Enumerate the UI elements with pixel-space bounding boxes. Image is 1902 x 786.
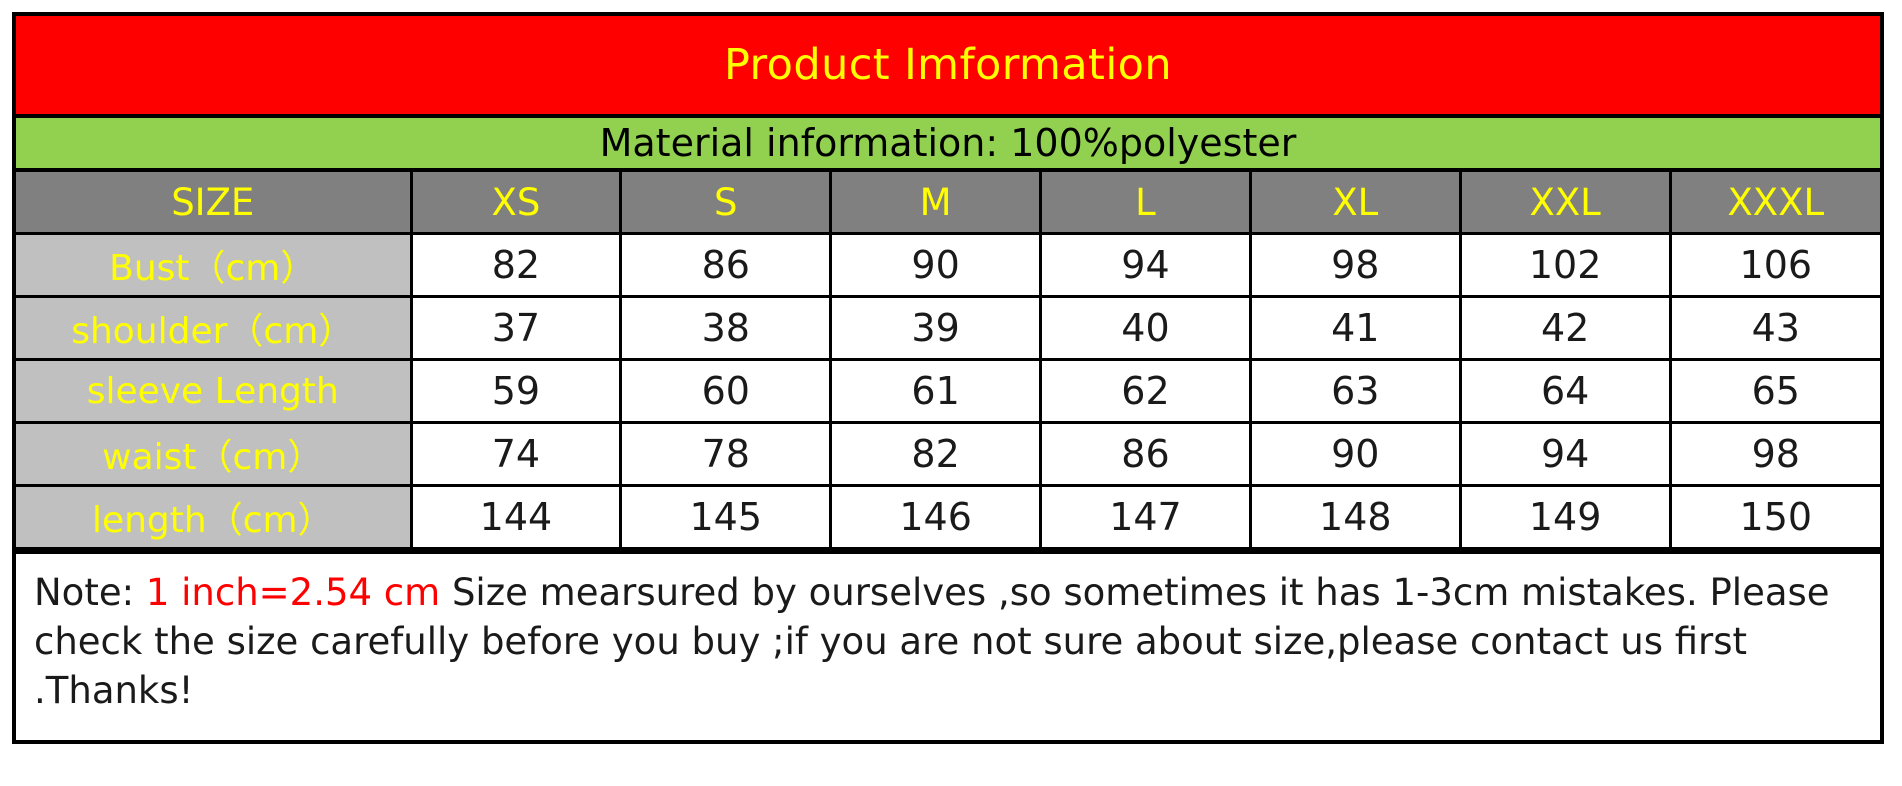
- cell-length-s: 145: [621, 486, 831, 549]
- column-header-size: SIZE: [16, 172, 411, 234]
- table-row: shoulder（cm） 37 38 39 40 41 42 43: [16, 297, 1880, 360]
- note-block: Note: 1 inch=2.54 cm Size mearsured by o…: [16, 550, 1880, 740]
- row-label-shoulder: shoulder（cm）: [16, 297, 411, 360]
- cell-bust-s: 86: [621, 234, 831, 297]
- cell-bust-xxl: 102: [1460, 234, 1670, 297]
- column-header-xl: XL: [1250, 172, 1460, 234]
- cell-shoulder-m: 39: [831, 297, 1041, 360]
- row-label-sleeve-length: sleeve Length: [16, 360, 411, 423]
- cell-sleeve-xl: 63: [1250, 360, 1460, 423]
- row-label-length: length（cm）: [16, 486, 411, 549]
- table-row: length（cm） 144 145 146 147 148 149 150: [16, 486, 1880, 549]
- row-label-bust: Bust（cm）: [16, 234, 411, 297]
- cell-shoulder-l: 40: [1041, 297, 1251, 360]
- cell-shoulder-xs: 37: [411, 297, 621, 360]
- table-row: waist（cm） 74 78 82 86 90 94 98: [16, 423, 1880, 486]
- cell-sleeve-xs: 59: [411, 360, 621, 423]
- cell-sleeve-xxl: 64: [1460, 360, 1670, 423]
- cell-waist-xs: 74: [411, 423, 621, 486]
- cell-bust-xxxl: 106: [1670, 234, 1880, 297]
- cell-waist-xxl: 94: [1460, 423, 1670, 486]
- table-header-row: SIZE XS S M L XL XXL XXXL: [16, 172, 1880, 234]
- cell-sleeve-l: 62: [1041, 360, 1251, 423]
- column-header-xs: XS: [411, 172, 621, 234]
- cell-bust-xs: 82: [411, 234, 621, 297]
- row-label-waist: waist（cm）: [16, 423, 411, 486]
- cell-length-xs: 144: [411, 486, 621, 549]
- cell-length-xl: 148: [1250, 486, 1460, 549]
- cell-shoulder-xxl: 42: [1460, 297, 1670, 360]
- cell-length-xxl: 149: [1460, 486, 1670, 549]
- cell-waist-s: 78: [621, 423, 831, 486]
- column-header-l: L: [1041, 172, 1251, 234]
- cell-waist-l: 86: [1041, 423, 1251, 486]
- note-prefix: Note:: [34, 571, 146, 614]
- column-header-xxxl: XXXL: [1670, 172, 1880, 234]
- cell-shoulder-s: 38: [621, 297, 831, 360]
- cell-sleeve-s: 60: [621, 360, 831, 423]
- size-table-body: Bust（cm） 82 86 90 94 98 102 106 shoulder…: [16, 234, 1880, 549]
- product-information-title: Product Imformation: [16, 16, 1880, 118]
- column-header-xxl: XXL: [1460, 172, 1670, 234]
- cell-sleeve-xxxl: 65: [1670, 360, 1880, 423]
- cell-length-m: 146: [831, 486, 1041, 549]
- cell-length-l: 147: [1041, 486, 1251, 549]
- cell-sleeve-m: 61: [831, 360, 1041, 423]
- cell-bust-xl: 98: [1250, 234, 1460, 297]
- cell-bust-l: 94: [1041, 234, 1251, 297]
- material-information-banner: Material information: 100%polyester: [16, 118, 1880, 172]
- cell-waist-xl: 90: [1250, 423, 1460, 486]
- note-conversion-highlight: 1 inch=2.54 cm: [146, 571, 440, 614]
- column-header-s: S: [621, 172, 831, 234]
- cell-waist-m: 82: [831, 423, 1041, 486]
- cell-waist-xxxl: 98: [1670, 423, 1880, 486]
- table-row: sleeve Length 59 60 61 62 63 64 65: [16, 360, 1880, 423]
- cell-length-xxxl: 150: [1670, 486, 1880, 549]
- cell-shoulder-xxxl: 43: [1670, 297, 1880, 360]
- table-row: Bust（cm） 82 86 90 94 98 102 106: [16, 234, 1880, 297]
- size-table: SIZE XS S M L XL XXL XXXL Bust（cm） 82 86…: [16, 172, 1880, 550]
- cell-shoulder-xl: 41: [1250, 297, 1460, 360]
- column-header-m: M: [831, 172, 1041, 234]
- cell-bust-m: 90: [831, 234, 1041, 297]
- size-table-header: SIZE XS S M L XL XXL XXXL: [16, 172, 1880, 234]
- size-chart-card: Product Imformation Material information…: [12, 12, 1884, 744]
